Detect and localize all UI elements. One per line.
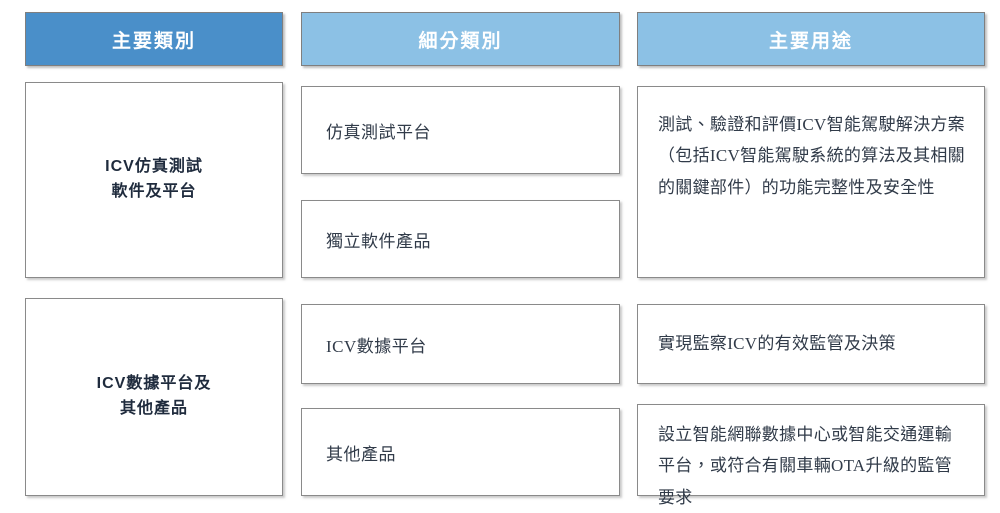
usage-label-row2-item1: 實現監察ICV的有效監管及決策 (658, 328, 896, 359)
subcategory-cell-row1-item1: 仿真測試平台 (301, 86, 620, 174)
subcategory-cell-row2-item1: ICV數據平台 (301, 304, 620, 384)
usage-label-row2-item2: 設立智能網聯數據中心或智能交通運輸平台，或符合有關車輛OTA升級的監管要求 (658, 419, 968, 513)
subcategory-label-row2-item2: 其他產品 (326, 440, 396, 465)
category-cell-row2: ICV數據平台及 其他產品 (25, 298, 283, 496)
header-sub-category: 細分類別 (301, 12, 620, 66)
subcategory-label-row2-item1: ICV數據平台 (326, 332, 427, 357)
header-sub-category-label: 細分類別 (418, 26, 502, 53)
subcategory-cell-row2-item2: 其他產品 (301, 408, 620, 496)
usage-cell-row2-item1: 實現監察ICV的有效監管及決策 (637, 304, 985, 384)
header-main-usage-label: 主要用途 (769, 26, 853, 53)
subcategory-label-row1-item2: 獨立軟件產品 (326, 227, 431, 252)
subcategory-label-row1-item1: 仿真測試平台 (326, 118, 431, 143)
header-main-category-label: 主要類別 (112, 26, 196, 53)
header-main-category: 主要類別 (25, 12, 283, 66)
category-cell-row1: ICV仿真測試 軟件及平台 (25, 82, 283, 278)
usage-cell-row1: 測試、驗證和評價ICV智能駕駛解決方案（包括ICV智能駕駛系統的算法及其相關的關… (637, 86, 985, 278)
usage-label-row1: 測試、驗證和評價ICV智能駕駛解決方案（包括ICV智能駕駛系統的算法及其相關的關… (658, 109, 968, 203)
category-label-row1: ICV仿真測試 軟件及平台 (105, 155, 203, 205)
usage-cell-row2-item2: 設立智能網聯數據中心或智能交通運輸平台，或符合有關車輛OTA升級的監管要求 (637, 404, 985, 496)
header-main-usage: 主要用途 (637, 12, 985, 66)
subcategory-cell-row1-item2: 獨立軟件產品 (301, 200, 620, 278)
diagram-canvas: 主要類別 細分類別 主要用途 ICV仿真測試 軟件及平台 仿真測試平台 獨立軟件… (0, 0, 1000, 513)
category-label-row2: ICV數據平台及 其他產品 (97, 372, 212, 422)
